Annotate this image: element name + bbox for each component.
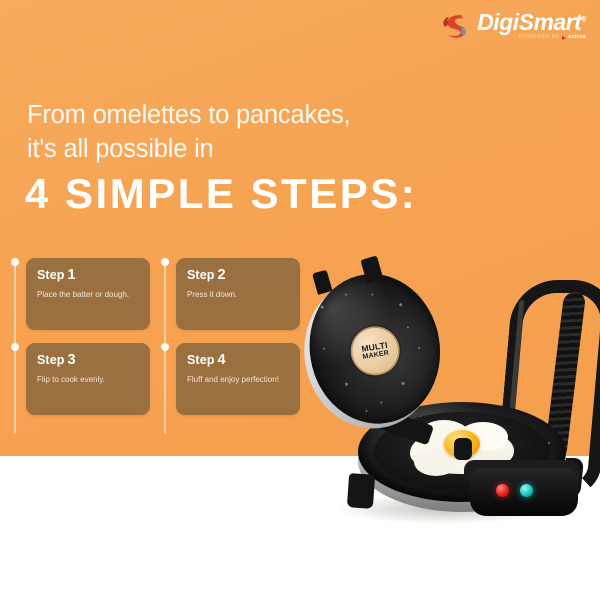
step-card-3[interactable]: Step3 Flip to cook evenly.	[26, 343, 150, 415]
subheadline: From omelettes to pancakes, it's all pos…	[27, 99, 457, 167]
brand-tagline: POWERED BY activa	[519, 35, 586, 41]
lid-clip	[312, 270, 332, 295]
step-card-1[interactable]: Step1 Place the batter or dough.	[26, 258, 150, 330]
timeline-rail	[164, 349, 166, 434]
timeline-dot-icon	[11, 258, 19, 266]
tagline-accent: activa	[568, 35, 586, 41]
timeline-dot-icon	[161, 258, 169, 266]
step-label: Step	[37, 268, 65, 282]
timeline-rail	[14, 264, 16, 349]
red-indicator-light-icon	[496, 484, 509, 497]
tagline-prefix: POWERED BY	[519, 35, 560, 41]
step-number: 2	[218, 267, 226, 283]
step-number: 1	[68, 267, 76, 283]
step-label: Step	[187, 353, 215, 367]
promo-poster: DigiSmart® POWERED BY activa From omelet…	[0, 0, 600, 600]
step-card-title: Step4	[187, 352, 289, 368]
steps-list: Step1 Place the batter or dough. Step2 P…	[14, 258, 314, 428]
product-lid: MULTI MAKER	[292, 260, 455, 440]
teal-indicator-light-icon	[520, 484, 533, 497]
step-item-4: Step4 Fluff and enjoy perfection!	[164, 343, 300, 415]
step-item-3: Step3 Flip to cook evenly.	[14, 343, 150, 415]
steps-row-2: Step3 Flip to cook evenly. Step4 Fluff a…	[14, 343, 314, 415]
step-label: Step	[37, 353, 65, 367]
registered-mark: ®	[581, 17, 586, 24]
step-card-title: Step3	[37, 352, 139, 368]
step-card-title: Step1	[37, 267, 139, 283]
subheadline-line-1: From omelettes to pancakes,	[27, 99, 457, 133]
page-title: 4 SIMPLE STEPS:	[25, 170, 417, 218]
step-card-title: Step2	[187, 267, 289, 283]
step-description: Fluff and enjoy perfection!	[187, 374, 289, 386]
product-image-multi-maker: MULTI MAKER	[296, 262, 600, 572]
timeline-dot-icon	[11, 343, 19, 351]
step-description: Press it down.	[187, 289, 289, 301]
timeline-dot-icon	[161, 343, 169, 351]
step-description: Place the batter or dough.	[37, 289, 139, 301]
step-number: 4	[218, 352, 226, 368]
lid-latch	[454, 438, 472, 460]
timeline-rail	[164, 264, 166, 349]
triangle-icon	[562, 36, 566, 40]
brand-name: DigiSmart®	[477, 11, 586, 34]
step-card-4[interactable]: Step4 Fluff and enjoy perfection!	[176, 343, 300, 415]
step-item-2: Step2 Press it down.	[164, 258, 300, 330]
step-number: 3	[68, 352, 76, 368]
step-card-2[interactable]: Step2 Press it down.	[176, 258, 300, 330]
digismart-s-logo-icon	[440, 11, 470, 41]
brand-logo[interactable]: DigiSmart® POWERED BY activa	[440, 11, 586, 41]
steps-row-1: Step1 Place the batter or dough. Step2 P…	[14, 258, 314, 330]
subheadline-line-2: it's all possible in	[27, 133, 457, 167]
timeline-rail	[14, 349, 16, 434]
step-description: Flip to cook evenly.	[37, 374, 139, 386]
step-label: Step	[187, 268, 215, 282]
step-item-1: Step1 Place the batter or dough.	[14, 258, 150, 330]
base-foot	[347, 473, 375, 509]
